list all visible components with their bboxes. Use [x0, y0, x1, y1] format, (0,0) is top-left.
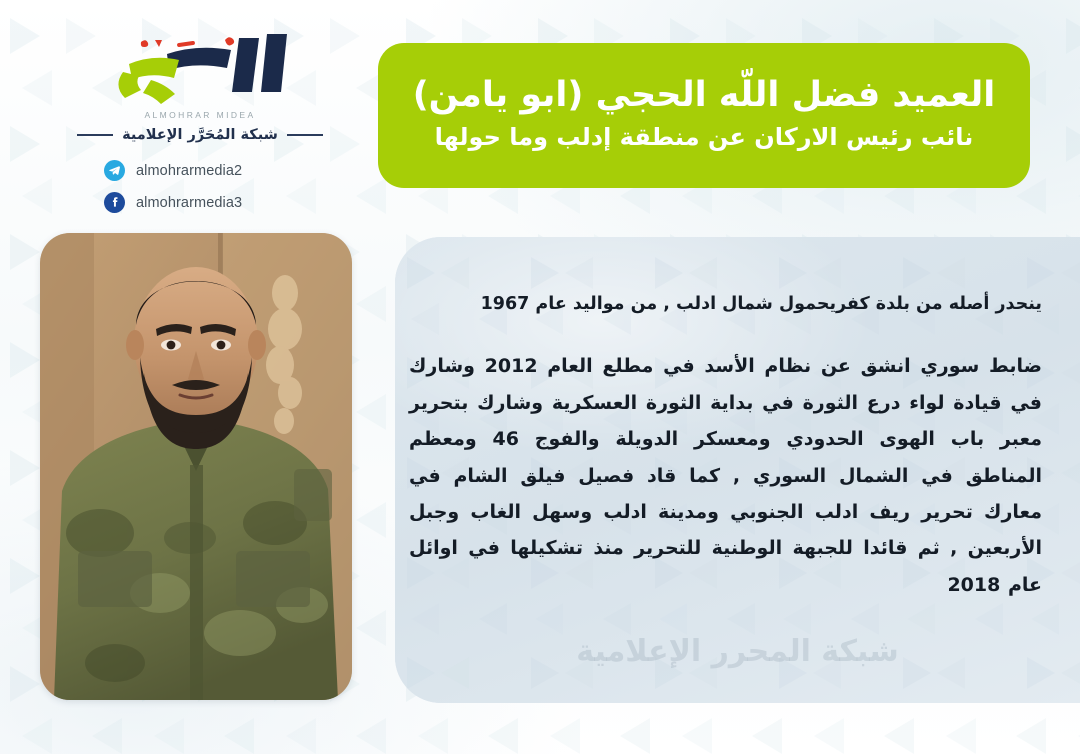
brand-tagline: شبكة المُحَرَّر الإعلامية: [122, 127, 278, 143]
page-subtitle: نائب رئيس الاركان عن منطقة إدلب وما حوله…: [435, 123, 974, 152]
telegram-icon: [104, 160, 125, 181]
social-links: almohrarmedia2 almohrarmedia3: [104, 160, 242, 213]
facebook-handle: almohrarmedia3: [136, 195, 242, 211]
portrait-photo: [40, 233, 352, 700]
biography-text: ينحدر أصله من بلدة كفريحمول شمال ادلب , …: [409, 291, 1042, 603]
page-title: العميد فضل اللّه الحجي (ابو يامن): [413, 75, 996, 116]
biography-paragraph: ضابط سوري انشق عن نظام الأسد في مطلع الع…: [409, 348, 1042, 603]
telegram-handle: almohrarmedia2: [136, 163, 242, 179]
almohrar-wordmark-logo: [107, 28, 293, 106]
tagline-rule-right: [287, 134, 323, 136]
biography-panel: شبكة المحرر الإعلامية ينحدر أصله من بلدة…: [395, 237, 1080, 703]
title-banner: العميد فضل اللّه الحجي (ابو يامن) نائب ر…: [378, 43, 1030, 188]
brand-block: ALMOHRAR MIDEA شبكة المُحَرَّر الإعلامية: [60, 28, 340, 143]
brand-tagline-row: شبكة المُحَرَّر الإعلامية: [60, 127, 340, 143]
portrait-photo-illustration: [40, 233, 352, 700]
social-link-telegram[interactable]: almohrarmedia2: [104, 160, 242, 181]
facebook-icon: [104, 192, 125, 213]
social-link-facebook[interactable]: almohrarmedia3: [104, 192, 242, 213]
logo-latin-subtitle: ALMOHRAR MIDEA: [60, 110, 340, 120]
media-poster: ALMOHRAR MIDEA شبكة المُحَرَّر الإعلامية…: [0, 0, 1080, 754]
biography-lead: ينحدر أصله من بلدة كفريحمول شمال ادلب , …: [409, 291, 1042, 318]
tagline-rule-left: [77, 134, 113, 136]
